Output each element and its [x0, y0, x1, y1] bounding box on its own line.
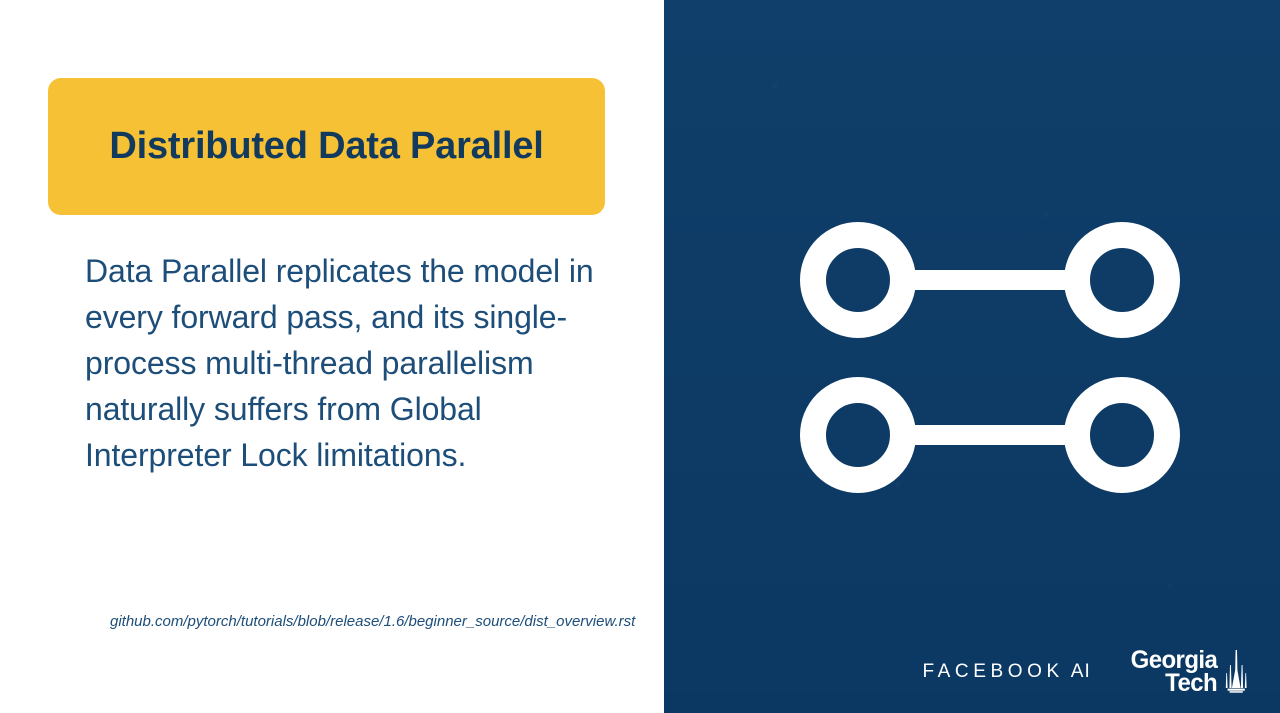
- georgia-tech-wordmark: Georgia Tech: [1127, 649, 1217, 695]
- node-ring-icon: [1064, 377, 1180, 493]
- source-citation: github.com/pytorch/tutorials/blob/releas…: [110, 610, 622, 634]
- node-ring-icon: [1064, 222, 1180, 338]
- page-title: Distributed Data Parallel: [109, 124, 543, 169]
- facebook-wordmark: FACEBOOK: [922, 661, 1063, 683]
- node-link-connector: [904, 425, 1076, 445]
- node-ring-icon: [800, 377, 916, 493]
- node-ring-icon: [800, 222, 916, 338]
- linked-nodes-graphic: [800, 222, 1180, 502]
- georgia-tech-tower-icon: [1222, 650, 1250, 694]
- facebook-ai-logo: FACEBOOK AI: [922, 661, 1090, 683]
- body-paragraph: Data Parallel replicates the model in ev…: [85, 248, 605, 478]
- node-pair-bottom: [800, 377, 1180, 493]
- left-content-panel: Distributed Data Parallel Data Parallel …: [0, 0, 664, 713]
- georgia-tech-logo: Georgia Tech: [1127, 649, 1250, 695]
- title-banner: Distributed Data Parallel: [48, 78, 605, 215]
- facebook-ai-suffix: AI: [1071, 661, 1091, 683]
- georgia-tech-line-2: Tech: [1165, 672, 1217, 695]
- right-graphic-panel: FACEBOOK AI Georgia Tech: [664, 0, 1280, 713]
- node-link-connector: [904, 270, 1076, 290]
- logo-row: FACEBOOK AI Georgia Tech: [922, 649, 1250, 695]
- slide: Distributed Data Parallel Data Parallel …: [0, 0, 1280, 713]
- node-pair-top: [800, 222, 1180, 338]
